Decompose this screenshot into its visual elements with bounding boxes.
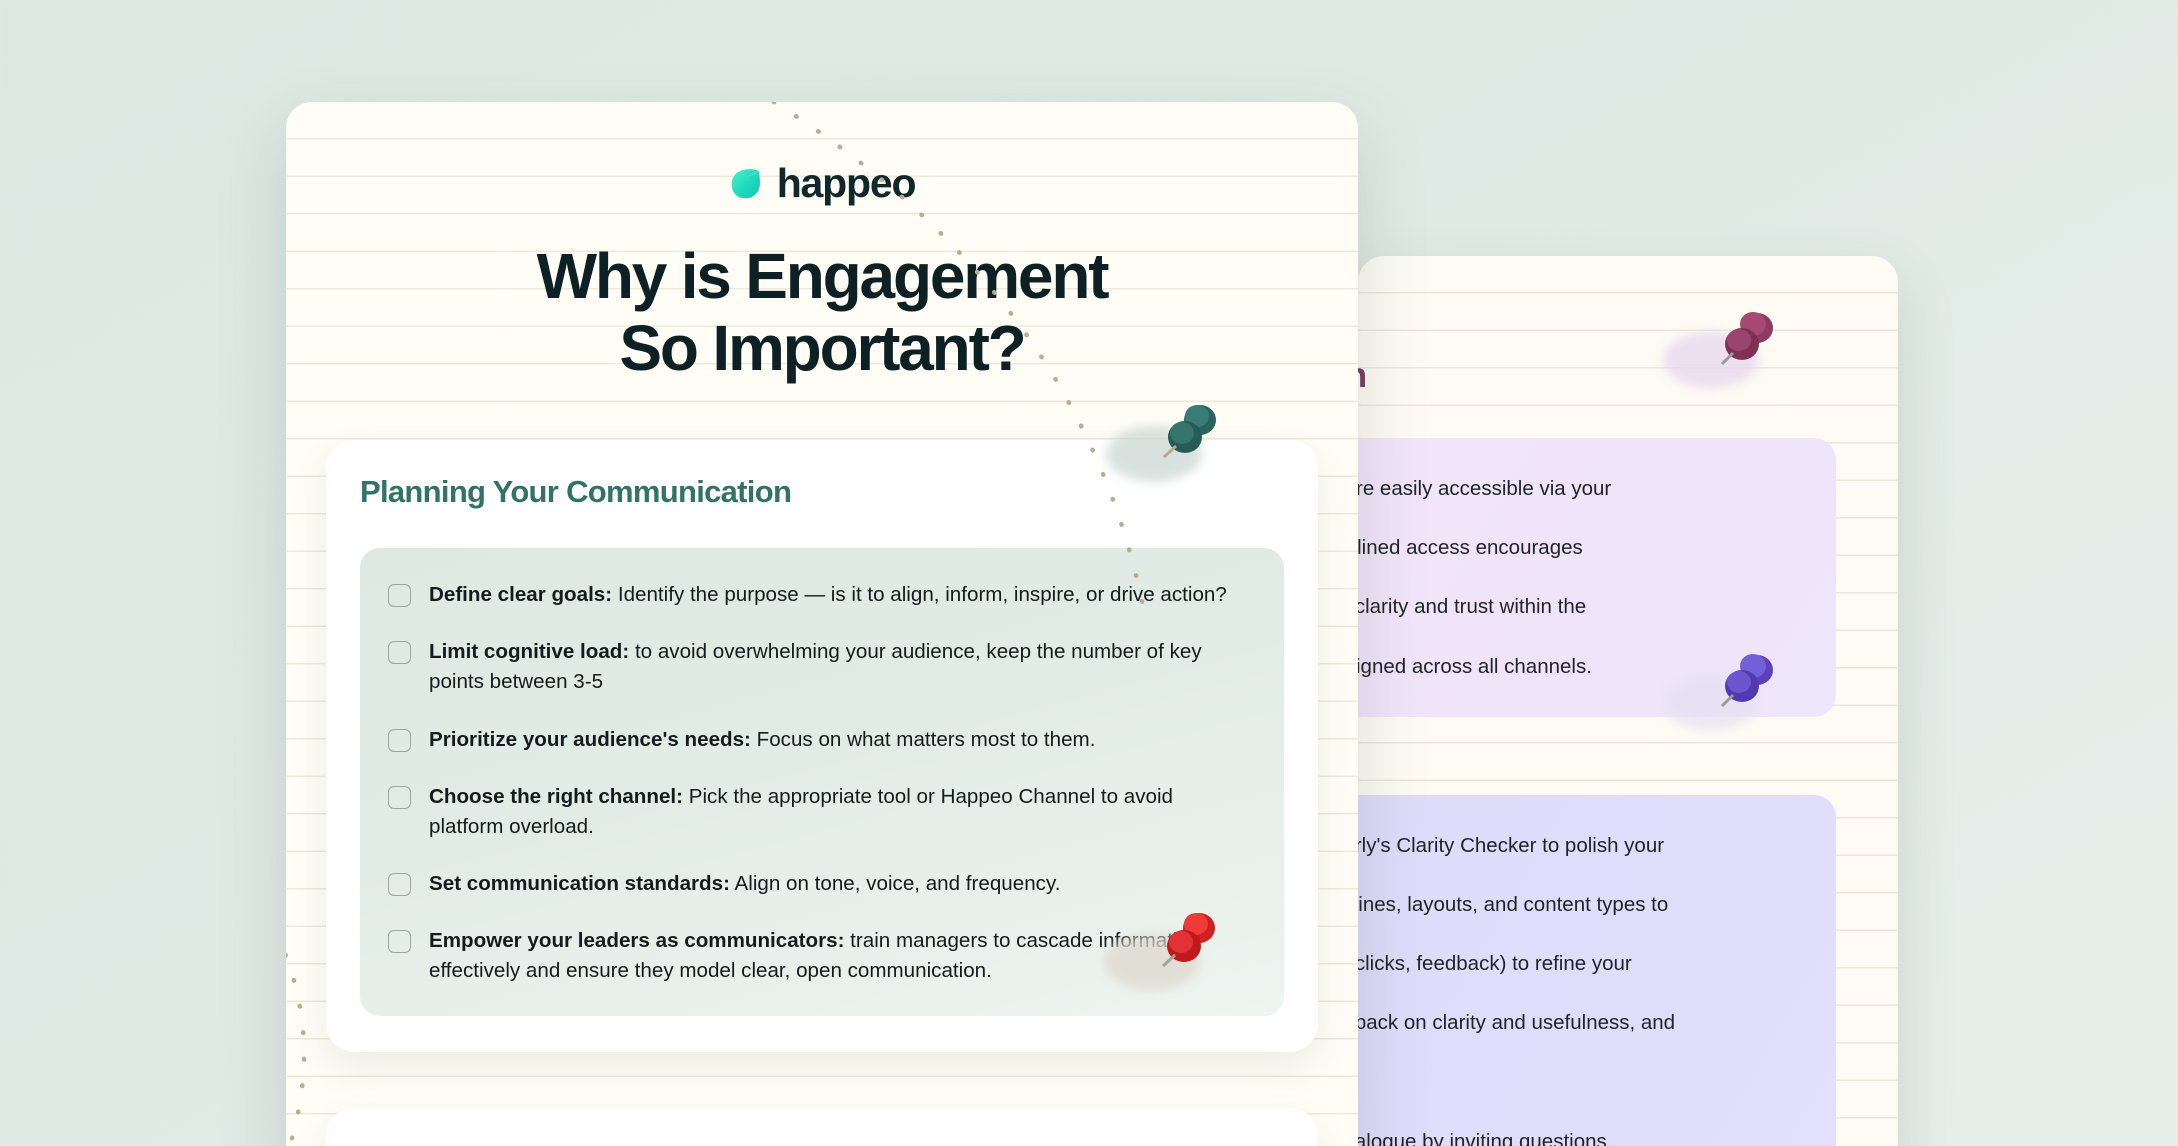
checklist-item-desc: Align on tone, voice, and frequency.	[730, 872, 1061, 895]
brand-lockup: happeo	[286, 160, 1358, 207]
checkbox-limit-cognitive-load[interactable]	[388, 641, 411, 664]
checklist-item[interactable]: Limit cognitive load: to avoid overwhelm…	[388, 637, 1250, 697]
checklist-item-label: Limit cognitive load:	[429, 640, 629, 663]
back-panel-indigo: e Grammarly's Clarity Checker to polish …	[1358, 795, 1836, 1146]
checklist-item-text: Define clear goals: Identify the purpose…	[429, 580, 1227, 610]
checklist-item-label: Define clear goals:	[429, 583, 612, 606]
page-title: Why is Engagement So Important?	[286, 241, 1358, 384]
back-line: ter open dialogue by inviting questions,	[1358, 1125, 1798, 1146]
back-line: ns. Streamlined access encourages	[1358, 531, 1798, 564]
checkbox-set-communication-standards[interactable]	[388, 873, 411, 896]
section-planning: Planning Your Communication Define clear…	[326, 440, 1318, 1052]
checklist-panel-planning: Define clear goals: Identify the purpose…	[360, 548, 1284, 1016]
checkbox-choose-right-channel[interactable]	[388, 786, 411, 809]
back-line: e Grammarly's Clarity Checker to polish …	[1358, 829, 1798, 862]
checklist-item-label: Prioritize your audience's needs:	[429, 728, 751, 751]
checklist-item-text: Limit cognitive load: to avoid overwhelm…	[429, 637, 1250, 697]
back-line: earn.	[1358, 1066, 1798, 1099]
checklist-item-label: Empower your leaders as communicators:	[429, 929, 844, 952]
back-line: ncy builds clarity and trust within the	[1358, 590, 1798, 623]
page-title-line-1: Why is Engagement	[346, 241, 1298, 313]
checklist-item-text: Set communication standards: Align on to…	[429, 869, 1060, 899]
back-line: essages aligned across all channels.	[1358, 650, 1798, 683]
back-line: nats, headlines, layouts, and content ty…	[1358, 888, 1798, 921]
main-checklist-card: happeo Why is Engagement So Important? P…	[286, 102, 1358, 1146]
checklist-item-label: Set communication standards:	[429, 872, 730, 895]
checklist-item-text: Empower your leaders as communicators: t…	[429, 926, 1250, 986]
checkbox-define-clear-goals[interactable]	[388, 584, 411, 607]
checklist-item-desc: Identify the purpose — is it to align, i…	[612, 583, 1227, 606]
checklist-item-desc: Focus on what matters most to them.	[751, 728, 1096, 751]
checklist-item[interactable]: Empower your leaders as communicators: t…	[388, 926, 1250, 986]
checklist-item[interactable]: Set communication standards: Align on to…	[388, 869, 1250, 899]
checklist-item[interactable]: Prioritize your audience's needs: Focus …	[388, 725, 1250, 755]
happeo-leaf-icon	[729, 167, 763, 201]
checkbox-empower-leaders[interactable]	[388, 930, 411, 953]
checklist-item-label: Choose the right channel:	[429, 785, 683, 808]
checklist-item-text: Choose the right channel: Pick the appro…	[429, 782, 1250, 842]
checklist-item[interactable]: Choose the right channel: Pick the appro…	[388, 782, 1250, 842]
back-line: nications are easily accessible via your	[1358, 472, 1798, 505]
section-title-planning: Planning Your Communication	[360, 474, 1284, 510]
back-checklist-card: cation nications are easily accessible v…	[1358, 256, 1898, 1146]
back-line: pen rates, clicks, feedback) to refine y…	[1358, 947, 1798, 980]
back-line: es for feedback on clarity and usefulnes…	[1358, 1006, 1798, 1039]
brand-name: happeo	[777, 160, 916, 207]
page-title-line-2: So Important?	[346, 313, 1298, 385]
checklist-item-text: Prioritize your audience's needs: Focus …	[429, 725, 1095, 755]
back-panel-lavender: nications are easily accessible via your…	[1358, 438, 1836, 717]
section-writing: Writing Your Communication Use clear, si…	[326, 1108, 1318, 1146]
section-title-writing: Writing Your Communication	[360, 1142, 1284, 1146]
back-card-heading: cation	[1358, 356, 1898, 396]
checklist-item[interactable]: Define clear goals: Identify the purpose…	[388, 580, 1250, 610]
checkbox-prioritize-audience-needs[interactable]	[388, 729, 411, 752]
